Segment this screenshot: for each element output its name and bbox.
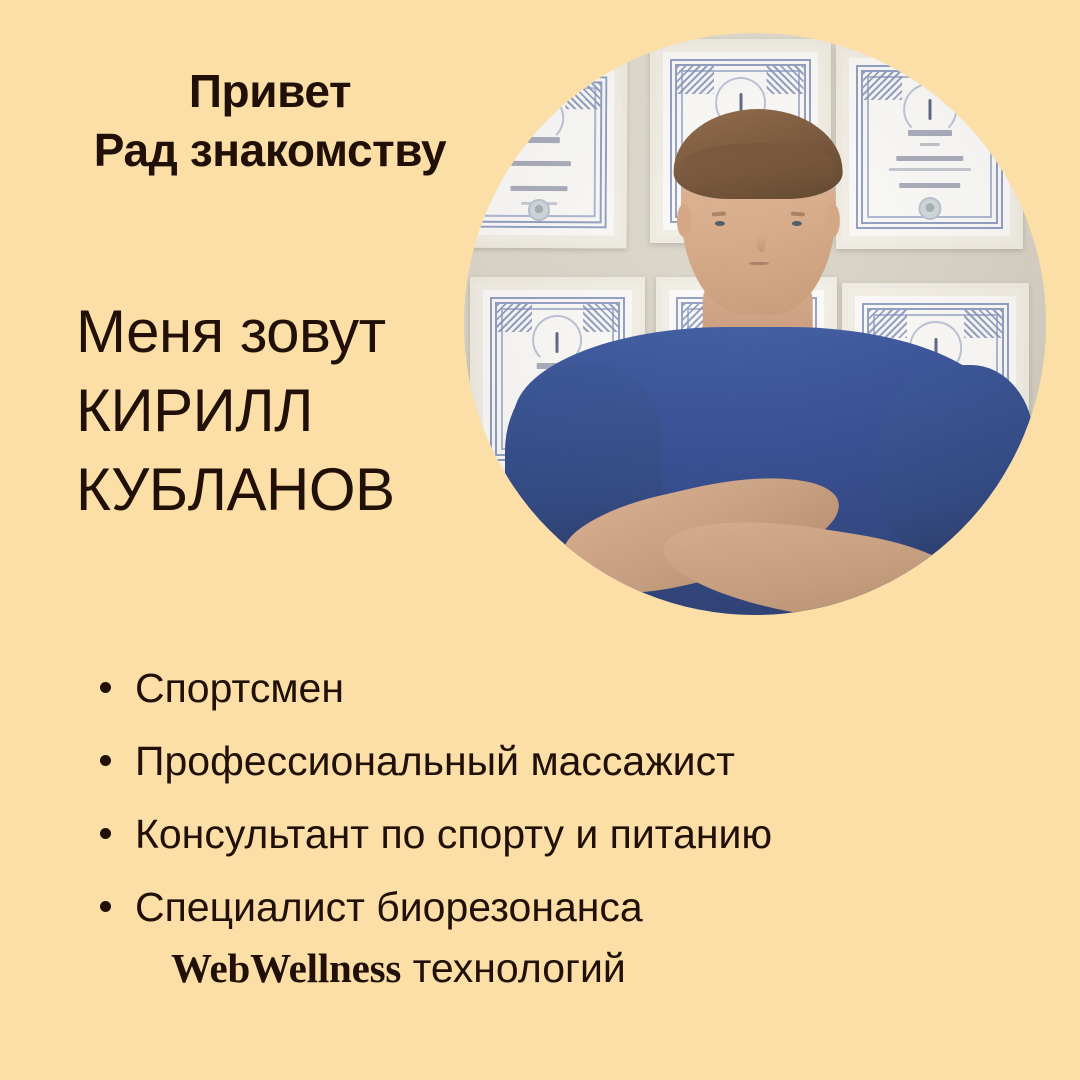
name-block: Меня зовут КИРИЛЛ КУБЛАНОВ: [76, 292, 506, 530]
bullet-icon: [100, 682, 111, 693]
credential-label: Профессиональный массажист: [135, 738, 735, 784]
eye-right: [792, 221, 802, 226]
list-item: Спортсмен: [98, 660, 958, 717]
credential-second-line-rest: технологий: [401, 945, 626, 991]
eyebrow-left: [712, 211, 726, 216]
name-intro: Меня зовут: [76, 292, 506, 371]
bullet-icon: [100, 828, 111, 839]
greeting-line-1: Привет: [0, 62, 540, 121]
credential-label: Спортсмен: [135, 665, 344, 711]
ear-left: [677, 204, 691, 237]
profile-photo: [464, 33, 1046, 615]
credential-label: Консультант по спорту и питанию: [135, 811, 772, 857]
eye-left: [715, 221, 725, 226]
hair: [674, 109, 843, 199]
list-item: Консультант по спорту и питанию: [98, 806, 958, 863]
nose: [757, 235, 766, 252]
bullet-icon: [100, 901, 111, 912]
list-item: Специалист биорезонанса WebWellness техн…: [98, 879, 958, 997]
bullet-icon: [100, 755, 111, 766]
credential-label: Специалист биорезонанса: [135, 884, 643, 930]
person-portrait: [464, 33, 1046, 615]
sleeve-right: [877, 365, 1034, 557]
photo-content: [464, 33, 1046, 615]
last-name: КУБЛАНОВ: [76, 450, 506, 529]
mouth: [748, 262, 768, 265]
ear-right: [826, 204, 840, 237]
profile-poster: Привет Рад знакомству Меня зовут КИРИЛЛ …: [0, 0, 1080, 1080]
greeting-block: Привет Рад знакомству: [0, 62, 540, 180]
eyebrow-right: [791, 211, 805, 216]
list-item: Профессиональный массажист: [98, 733, 958, 790]
webwellness-brand: WebWellness: [171, 945, 401, 991]
first-name: КИРИЛЛ: [76, 371, 506, 450]
credential-second-line: WebWellness технологий: [135, 940, 958, 997]
credentials-list: Спортсмен Профессиональный массажист Кон…: [98, 660, 958, 997]
greeting-line-2: Рад знакомству: [0, 121, 540, 180]
